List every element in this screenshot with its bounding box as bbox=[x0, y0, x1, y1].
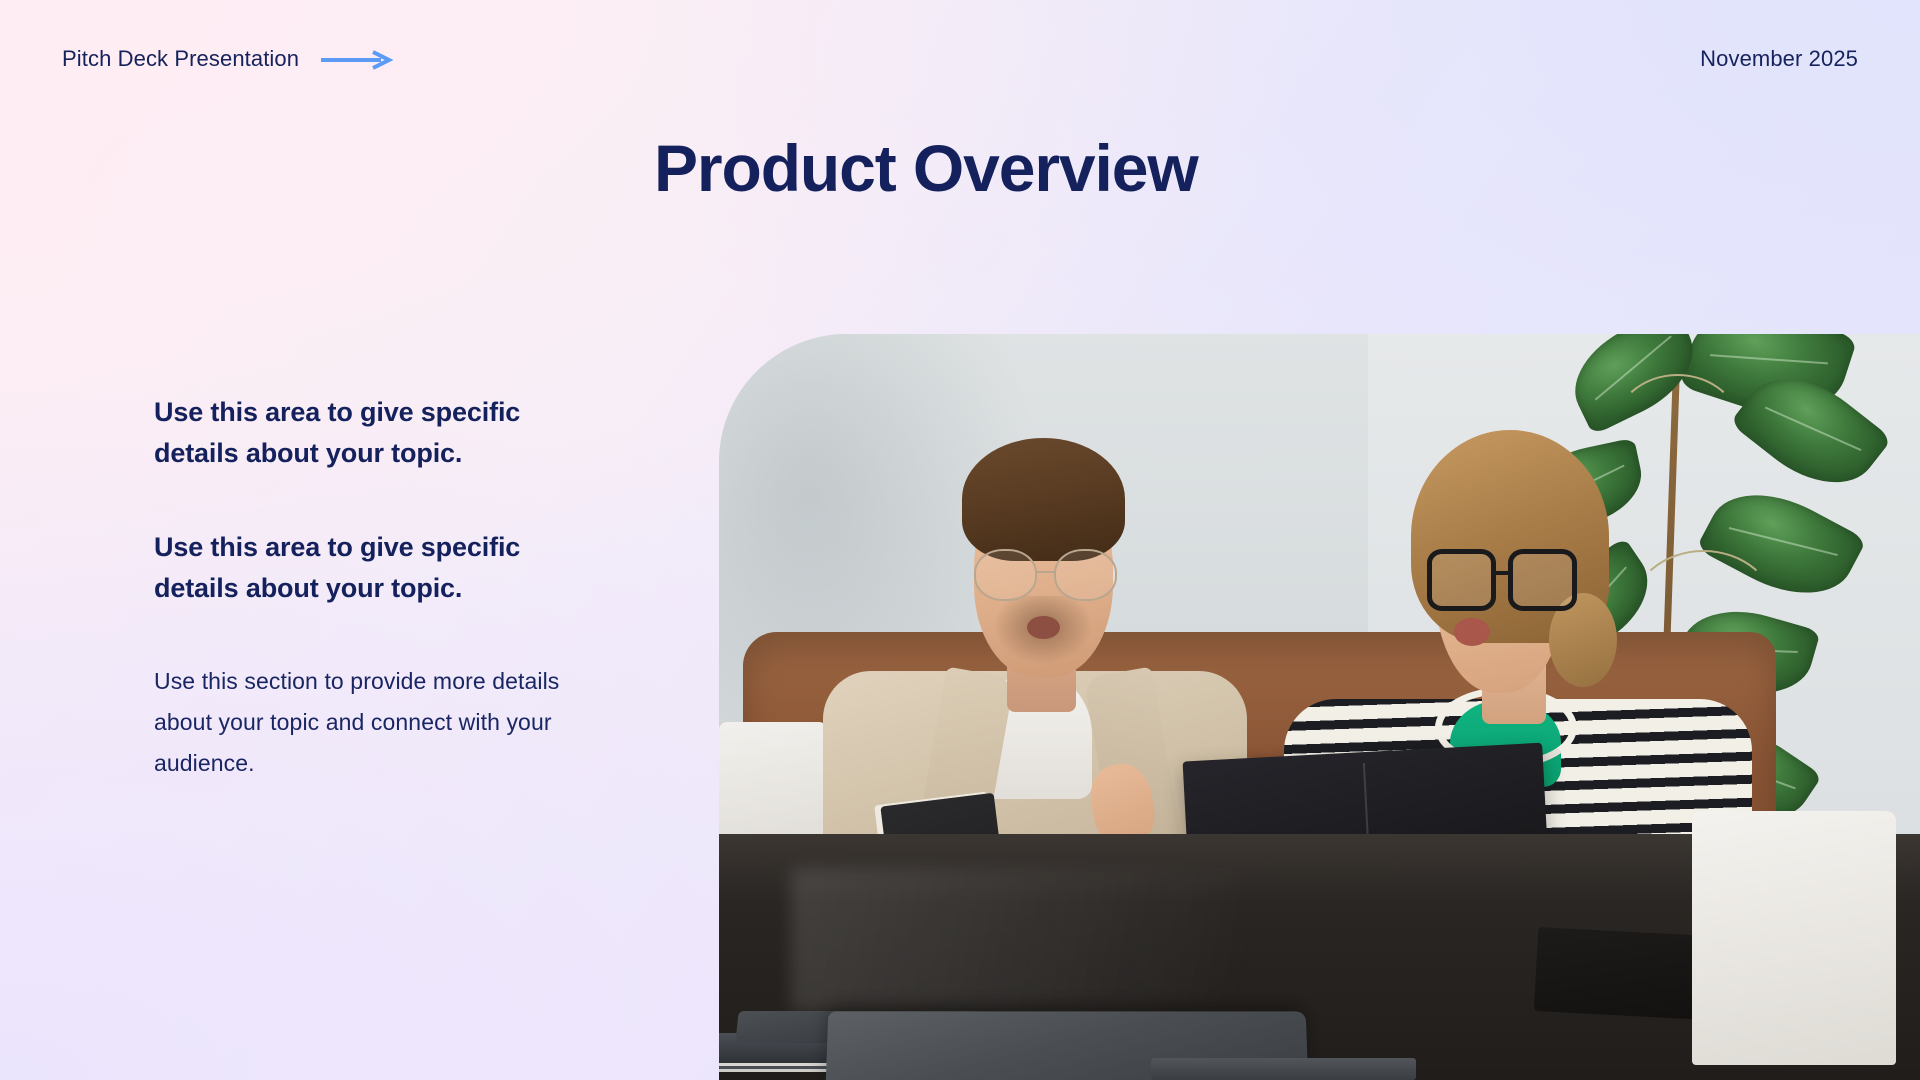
slide: Pitch Deck Presentation November 2025 Pr… bbox=[0, 0, 1920, 1080]
body-paragraph: Use this section to provide more details… bbox=[154, 661, 604, 784]
man-hair bbox=[962, 438, 1125, 560]
lead-paragraph-2: Use this area to give specific details a… bbox=[154, 527, 604, 610]
table-reflection bbox=[791, 868, 1536, 1011]
man-lens-right bbox=[1054, 549, 1117, 601]
copy-column: Use this area to give specific details a… bbox=[154, 392, 604, 784]
header-left-group: Pitch Deck Presentation bbox=[62, 46, 393, 72]
woman-eyeglasses-icon bbox=[1427, 549, 1578, 612]
lead-paragraph-1: Use this area to give specific details a… bbox=[154, 392, 604, 475]
man-lens-left bbox=[974, 549, 1037, 601]
woman-mouth bbox=[1454, 618, 1490, 646]
woman-lens-left bbox=[1427, 549, 1496, 612]
arrow-right-icon bbox=[321, 50, 393, 70]
woman-glasses-bridge bbox=[1494, 571, 1509, 575]
presentation-label: Pitch Deck Presentation bbox=[62, 46, 299, 72]
page-title: Product Overview bbox=[654, 130, 1198, 206]
man-mouth bbox=[1027, 616, 1060, 639]
presentation-date: November 2025 bbox=[1700, 46, 1858, 72]
man-glasses-bridge bbox=[1037, 571, 1054, 574]
laptop-keyboard bbox=[1151, 1058, 1415, 1080]
photo-scene: EAST 19 08 1 60 bbox=[719, 334, 1920, 1080]
hero-photo: EAST 19 08 1 60 bbox=[719, 334, 1920, 1080]
woman-lens-right bbox=[1508, 549, 1577, 612]
man-eyeglasses-icon bbox=[974, 549, 1117, 601]
chair-right bbox=[1692, 811, 1896, 1065]
slide-header: Pitch Deck Presentation November 2025 bbox=[0, 0, 1920, 118]
